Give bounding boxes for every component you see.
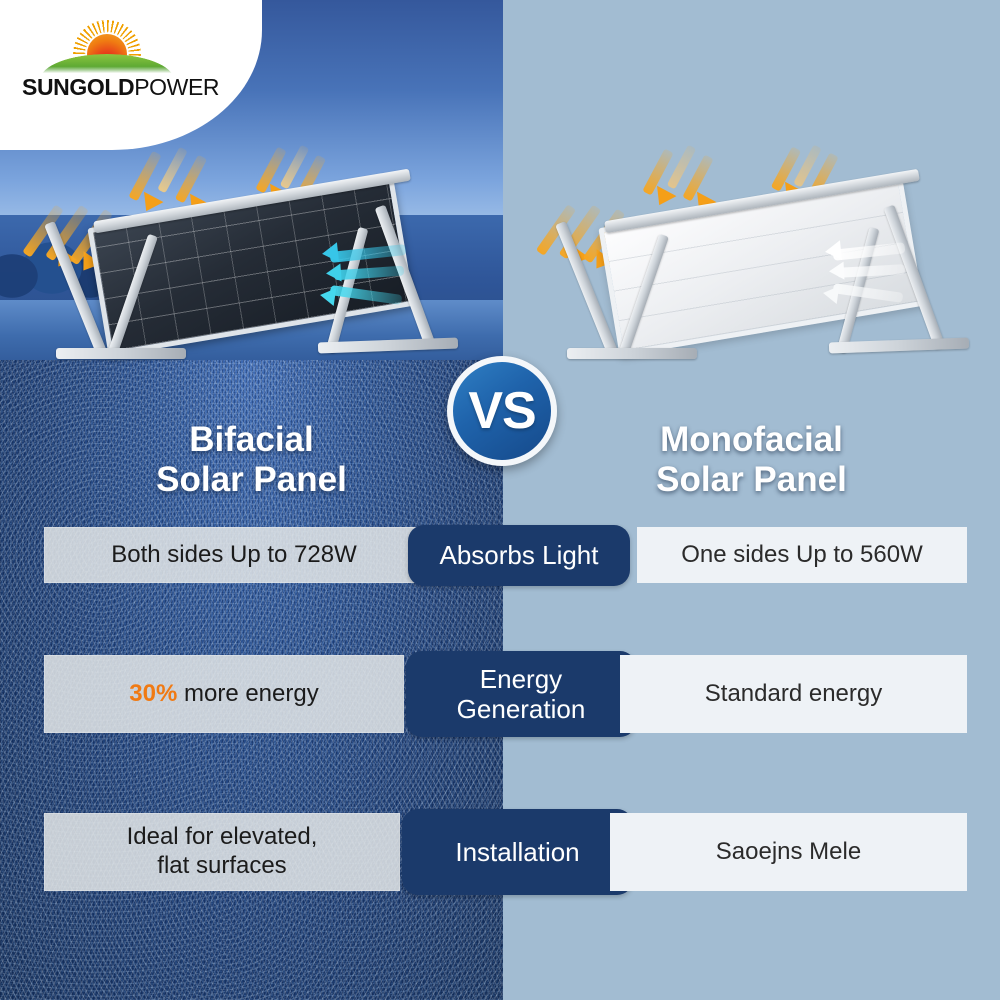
versus-label: VS (468, 385, 535, 437)
row-3-left-line2: flat surfaces (157, 852, 286, 879)
row-2-highlight: 30% (129, 680, 177, 707)
comparison-table: Both sides Up to 728W Absorbs Light One … (0, 0, 1000, 1000)
infographic-poster: SUNGOLDPOWER (0, 0, 1000, 1000)
row-1-feature-label: Absorbs Light (408, 525, 630, 586)
row-1-left-value: Both sides Up to 728W (44, 527, 424, 583)
row-1-right-value: One sides Up to 560W (637, 527, 967, 583)
versus-badge: VS (447, 356, 557, 466)
row-3-feature-label: Installation (402, 809, 633, 895)
row-3-right-value: Saoejns Mele (610, 813, 967, 891)
row-2-feature-line2: Generation (457, 694, 586, 724)
row-2-feature-line1: Energy (480, 664, 562, 694)
row-2-right-value: Standard energy (620, 655, 967, 733)
row-2-left-rest: more energy (177, 680, 318, 707)
row-2-feature-label: Energy Generation (406, 651, 636, 737)
row-3-left-line1: Ideal for elevated, (127, 823, 318, 850)
row-2-left-value: 30% more energy (44, 655, 404, 733)
row-3-left-value: Ideal for elevated, flat surfaces (44, 813, 400, 891)
comparison-row: Ideal for elevated, flat surfaces Instal… (0, 813, 1000, 891)
comparison-row: 30% more energy Energy Generation Standa… (0, 655, 1000, 733)
comparison-row: Both sides Up to 728W Absorbs Light One … (0, 527, 1000, 583)
